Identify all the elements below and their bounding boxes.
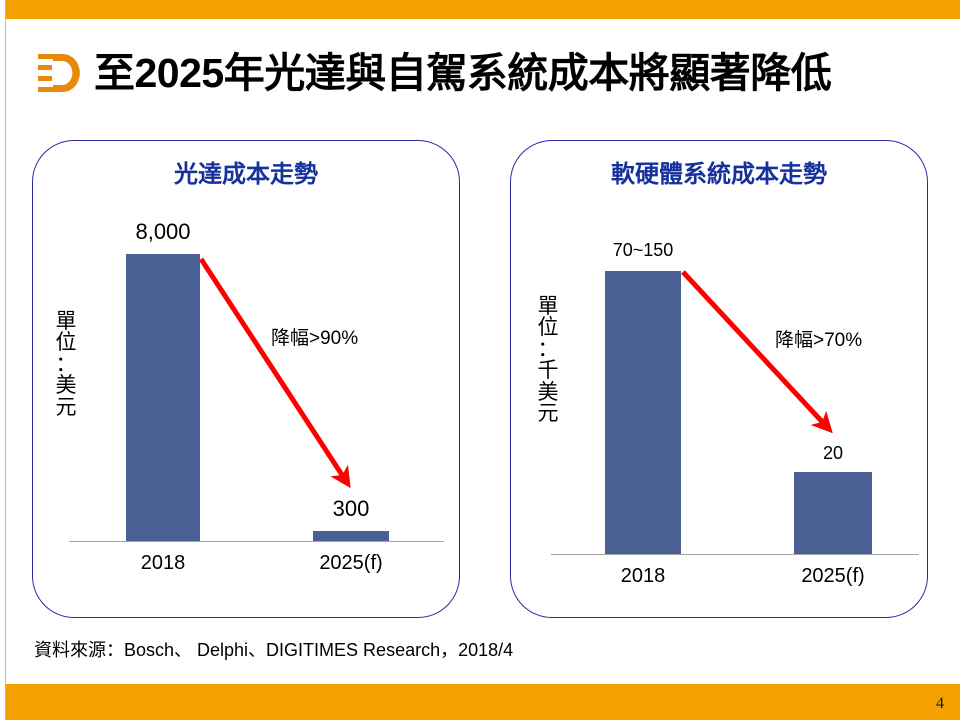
slide-header: 至2025年光達與自駕系統成本將顯著降低 <box>34 40 934 106</box>
bar-value-lidar-2018: 8,000 <box>93 221 233 243</box>
decline-arrow-lidar <box>33 141 461 619</box>
slide-left-edge <box>0 0 6 720</box>
page-title: 至2025年光達與自駕系統成本將顯著降低 <box>94 53 831 94</box>
source-note: 資料來源：Bosch、 Delphi、DIGITIMES Research，20… <box>34 641 513 659</box>
bar-system-2025 <box>794 472 872 554</box>
bar-value-system-2018: 70~150 <box>573 241 713 259</box>
chart-panel-lidar: 光達成本走勢 單 位 ： 美 元 8,000 300 2018 2025(f) <box>32 140 460 618</box>
x-axis-baseline <box>551 554 919 555</box>
bar-system-2018 <box>605 271 681 554</box>
chart-panel-system: 軟硬體系統成本走勢 單 位 ： 千 美 元 70~150 20 2018 202… <box>510 140 928 618</box>
digitimes-d-logo-icon <box>34 47 86 99</box>
slide-canvas: 至2025年光達與自駕系統成本將顯著降低 光達成本走勢 單 位 ： 美 元 8,… <box>0 0 960 720</box>
bar-lidar-2018 <box>126 254 200 541</box>
x-axis-label-2018: 2018 <box>583 566 703 586</box>
bar-lidar-2025 <box>313 531 389 541</box>
bottom-accent-bar <box>6 684 960 720</box>
annotation-system: 降幅>70% <box>775 331 862 350</box>
page-number: 4 <box>936 696 944 712</box>
bar-value-lidar-2025: 300 <box>291 498 411 520</box>
x-axis-baseline <box>69 541 444 542</box>
plot-area-lidar: 8,000 300 2018 2025(f) 降幅>90% <box>33 141 461 619</box>
plot-area-system: 70~150 20 2018 2025(f) 降幅>70% <box>511 141 929 619</box>
x-axis-label-2025: 2025(f) <box>773 566 893 586</box>
bar-value-system-2025: 20 <box>773 444 893 462</box>
top-accent-bar <box>6 0 960 19</box>
x-axis-label-2025: 2025(f) <box>291 553 411 573</box>
x-axis-label-2018: 2018 <box>103 553 223 573</box>
annotation-lidar: 降幅>90% <box>271 329 358 348</box>
